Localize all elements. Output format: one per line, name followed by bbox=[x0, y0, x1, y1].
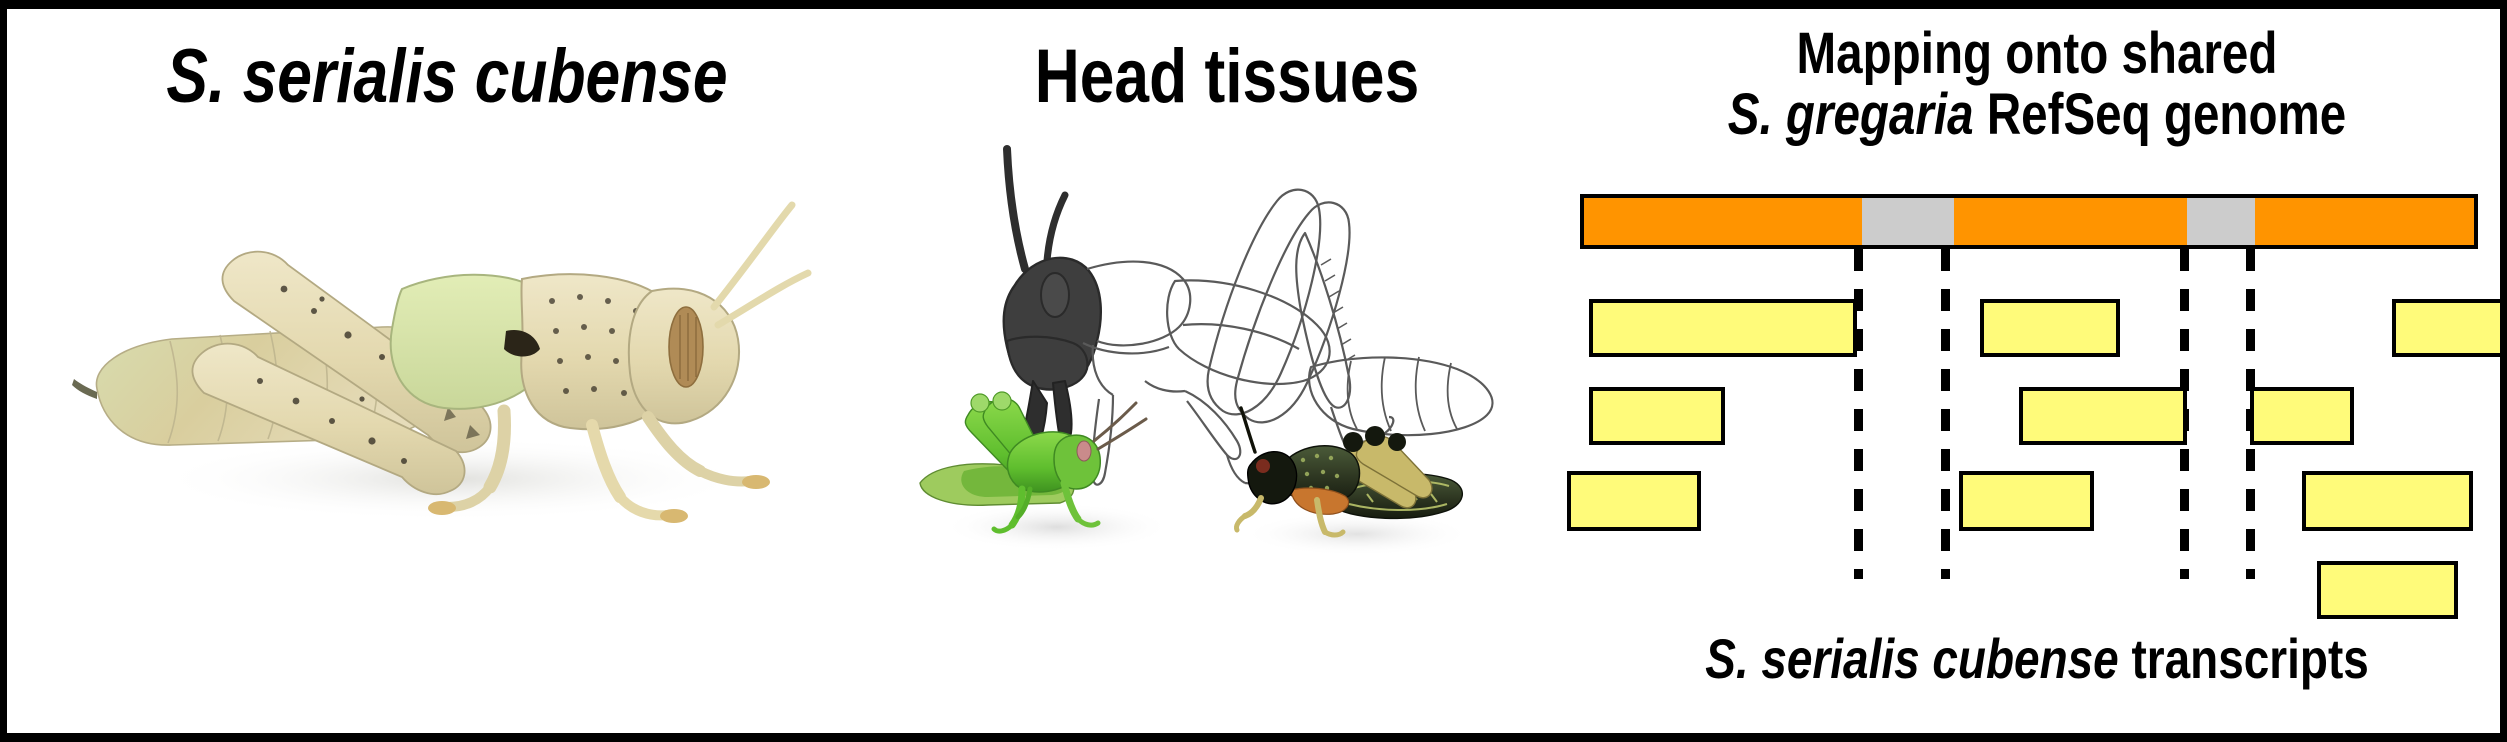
transcript-block-3-3 bbox=[2302, 471, 2473, 531]
head-tissues-title: Head tissues bbox=[948, 37, 1506, 118]
transcript-caption-rest: transcripts bbox=[2119, 627, 2369, 690]
genome-segment-exon-3 bbox=[1954, 198, 2187, 245]
panel-head-tissues: Head tissues bbox=[887, 9, 1567, 733]
reference-genome-track bbox=[1580, 194, 2478, 249]
transcript-row bbox=[1567, 561, 2507, 619]
transcript-species-name: S. serialis cubense bbox=[1705, 627, 2119, 690]
mapping-title-line1: Mapping onto shared bbox=[1797, 21, 2278, 86]
figure-canvas: S. serialis cubense bbox=[0, 0, 2507, 742]
green-grasshopper-photo bbox=[902, 379, 1192, 564]
species-title: S. serialis cubense bbox=[86, 37, 808, 118]
mapping-title: Mapping onto shared S. gregaria RefSeq g… bbox=[1652, 23, 2423, 146]
transcript-block-1-2 bbox=[1980, 299, 2120, 357]
genome-segment-exon-1 bbox=[1584, 198, 1862, 245]
genome-segment-exon-5 bbox=[2255, 198, 2478, 245]
transcript-caption: S. serialis cubense transcripts bbox=[1652, 629, 2423, 688]
transcript-block-1-3 bbox=[2392, 299, 2505, 357]
transcript-row bbox=[1567, 299, 2507, 357]
transcript-block-1-1 bbox=[1589, 299, 1857, 357]
panel-mapping: Mapping onto shared S. gregaria RefSeq g… bbox=[1567, 9, 2507, 733]
transcript-block-4-1 bbox=[2317, 561, 2458, 619]
dark-grasshopper-photo bbox=[1207, 394, 1497, 569]
genome-segment-gap-4 bbox=[2187, 198, 2255, 245]
transcript-row bbox=[1567, 471, 2507, 531]
transcript-block-2-3 bbox=[2250, 387, 2354, 445]
mapping-title-line2: S. gregaria RefSeq genome bbox=[1652, 84, 2423, 145]
transcript-block-2-1 bbox=[1589, 387, 1725, 445]
reference-species-name: S. gregaria bbox=[1728, 82, 1974, 147]
reference-genome-label: RefSeq genome bbox=[1974, 82, 2347, 147]
transcript-row bbox=[1567, 387, 2507, 445]
genome-segment-gap-2 bbox=[1862, 198, 1954, 245]
panel-species: S. serialis cubense bbox=[7, 9, 887, 733]
transcript-block-2-2 bbox=[2019, 387, 2187, 445]
locust-photograph bbox=[52, 149, 842, 549]
transcript-block-3-1 bbox=[1567, 471, 1701, 531]
transcript-block-3-2 bbox=[1959, 471, 2094, 531]
